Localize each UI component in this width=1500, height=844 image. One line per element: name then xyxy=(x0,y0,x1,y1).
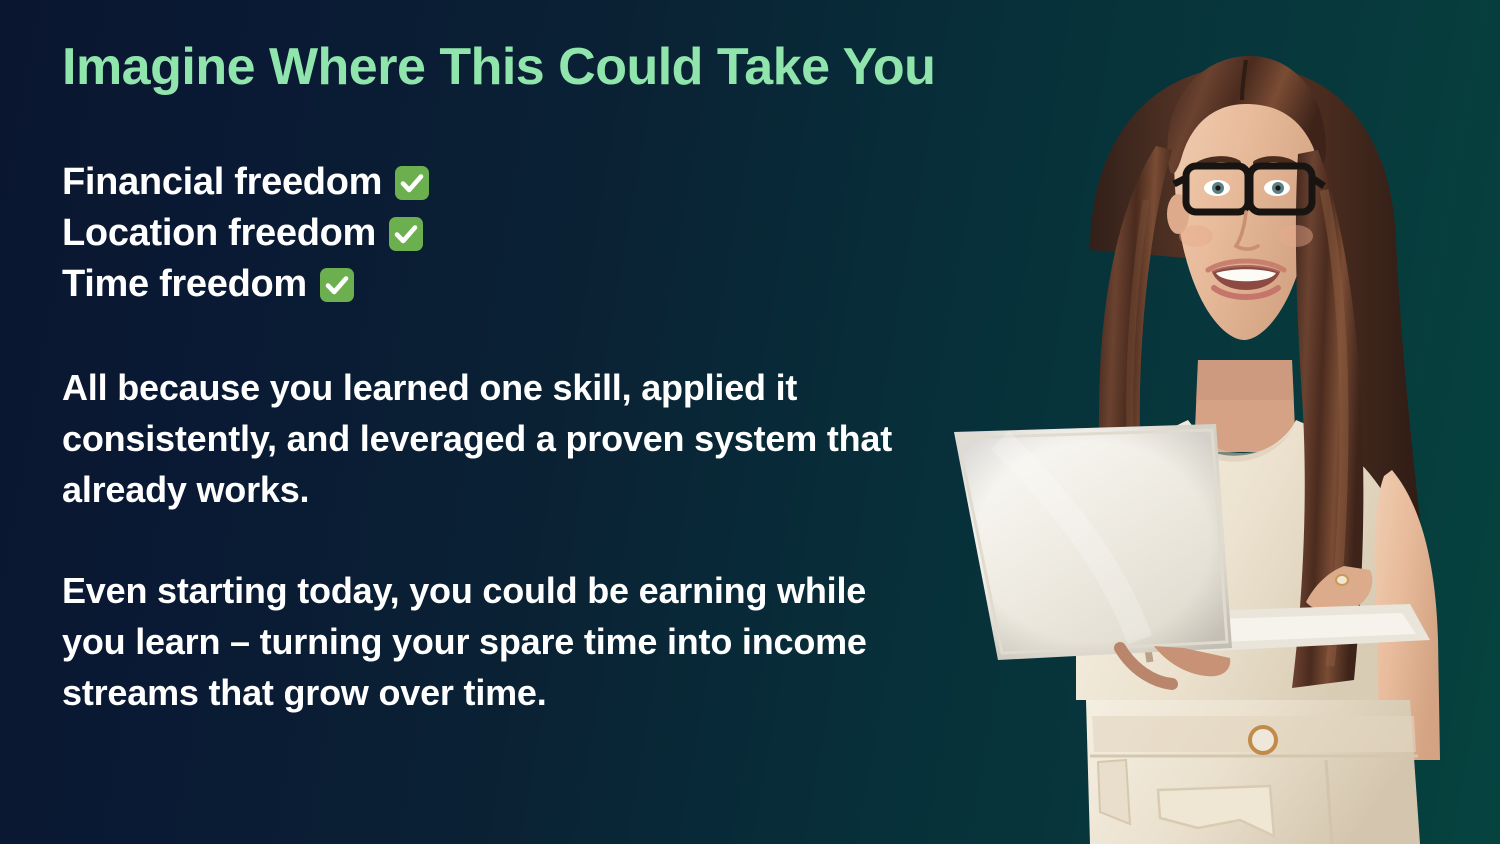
page-title: Imagine Where This Could Take You xyxy=(62,38,935,98)
body-paragraph-one: All because you learned one skill, appli… xyxy=(62,362,932,515)
text-column: Imagine Where This Could Take You Financ… xyxy=(62,0,962,844)
body-paragraph-two: Even starting today, you could be earnin… xyxy=(62,565,932,718)
woman-with-laptop-photo xyxy=(940,0,1500,844)
list-item: Time freedom xyxy=(62,259,430,309)
benefits-list: Financial freedom Location freedom xyxy=(62,157,430,310)
benefit-label-location-freedom: Location freedom xyxy=(62,214,376,252)
check-mark-button-icon xyxy=(388,216,424,252)
list-item: Financial freedom xyxy=(62,157,430,207)
check-mark-button-icon xyxy=(319,267,355,303)
benefit-label-time-freedom: Time freedom xyxy=(62,265,307,303)
benefit-label-financial-freedom: Financial freedom xyxy=(62,163,382,201)
list-item: Location freedom xyxy=(62,208,430,258)
promo-slide: Imagine Where This Could Take You Financ… xyxy=(0,0,1500,844)
check-mark-button-icon xyxy=(394,165,430,201)
